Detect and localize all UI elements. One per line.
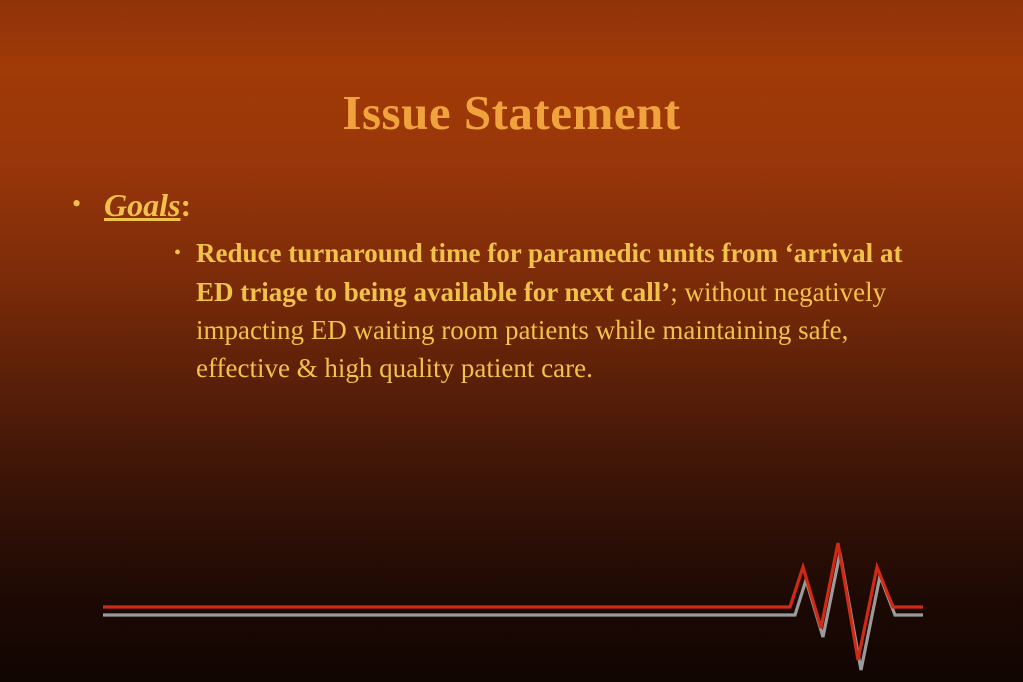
goals-colon: : (180, 187, 191, 223)
bullet-level1-text: Goals: (104, 186, 191, 224)
slide: Issue Statement • Goals: • Reduce turnar… (0, 0, 1023, 682)
heartbeat-ekg-line-icon (0, 540, 1023, 682)
goals-label: Goals (104, 187, 180, 223)
bullet-level2-text: Reduce turnaround time for paramedic uni… (196, 234, 936, 387)
bullet-level1: • Goals: (72, 186, 962, 224)
sub-bullet-marker-icon: • (174, 234, 196, 272)
page-title: Issue Statement (0, 84, 1023, 141)
slide-body: • Goals: • Reduce turnaround time for pa… (72, 186, 962, 388)
bullet-marker-icon: • (72, 186, 104, 221)
bullet-level2: • Reduce turnaround time for paramedic u… (174, 234, 962, 387)
